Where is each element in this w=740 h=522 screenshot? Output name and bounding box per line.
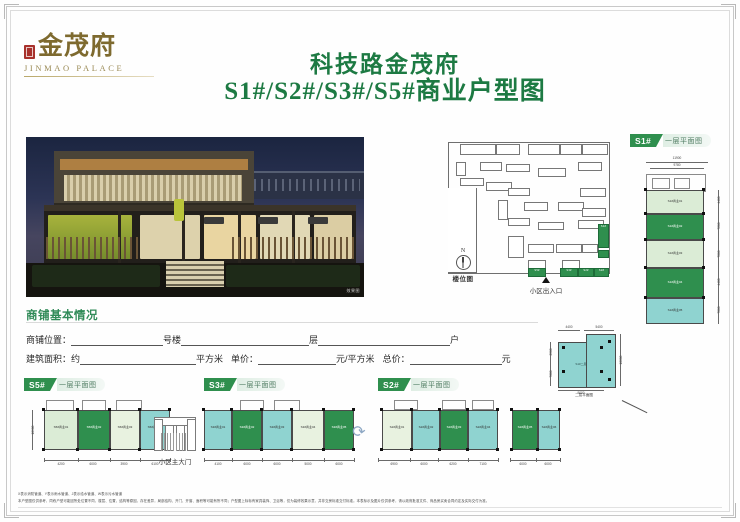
dim-text: 4400 xyxy=(558,325,580,329)
site-building xyxy=(456,162,466,176)
unit-suffix: 户 xyxy=(450,333,459,346)
unit-label: S2#商业05 xyxy=(513,425,537,430)
dim-line xyxy=(510,460,560,461)
corner-ornament-br xyxy=(721,503,736,518)
unit-block: S5#商业03 xyxy=(110,410,140,450)
shop-signage xyxy=(258,217,278,224)
footer-line-2: 本户型图仅供参考，同栋户型可能因所处位置不同，楼层、位置、结构等原因，存在差异，… xyxy=(18,498,722,504)
unit-input[interactable] xyxy=(318,334,450,346)
area-label: 建筑面积：约 xyxy=(26,352,80,365)
site-building xyxy=(582,244,598,253)
unit-block: S3#商业03 xyxy=(262,410,292,450)
brand-logo: 金茂府 JINMAO PALACE xyxy=(24,34,154,77)
unit-label: S3#商业04 xyxy=(293,425,323,430)
site-building xyxy=(528,244,554,253)
hedge xyxy=(32,265,160,287)
unit-block: S2#商业04 xyxy=(468,410,498,450)
total-price-input[interactable] xyxy=(410,353,502,365)
site-building xyxy=(580,188,606,197)
title-line-2: S1#/S2#/S3#/S5#商业户型图 xyxy=(185,78,585,106)
dim-text: 7000 xyxy=(717,247,721,261)
site-highlight-S1: S1# xyxy=(598,224,609,248)
unit-label: S1#商业02 xyxy=(647,224,703,229)
site-building xyxy=(508,188,530,196)
unit-label: S2#商业06 xyxy=(539,425,559,430)
chip-tail xyxy=(50,378,57,391)
site-highlight-small xyxy=(598,250,609,258)
unit-block: S1#商业01 xyxy=(646,190,704,214)
form-row-location: 商铺位置： 号楼 层 户 xyxy=(26,327,538,346)
footer-divider xyxy=(18,507,722,508)
building-no-input[interactable] xyxy=(71,334,163,346)
photo-watermark: 效果图 xyxy=(347,288,361,294)
brand-rule xyxy=(24,76,154,77)
floorplan-S1: 11900 9780 S1#商业01 S1#商业02 S1#商业03 S1#商业… xyxy=(636,158,736,338)
entry-pylon-sign xyxy=(174,199,184,221)
floor-suffix: 层 xyxy=(309,333,318,346)
dim-text: 6000 xyxy=(536,462,560,466)
site-building xyxy=(460,178,484,186)
entry-steps xyxy=(166,261,224,287)
dim-text: 6000 xyxy=(410,462,438,466)
entrance-caption: 小区出入口 xyxy=(508,285,584,295)
plan-caption-S5: 一层平面图 xyxy=(57,378,105,391)
dim-text: 9780 xyxy=(650,163,704,167)
shop-signage xyxy=(204,217,224,224)
unit-label: S1#商业05 xyxy=(647,308,703,313)
footer-disclaimer: X表示消防管道、Y表示雨水管道、J表示给水管道、W表示污水管道 本户型图仅供参考… xyxy=(18,491,722,508)
brand-name-en: JINMAO PALACE xyxy=(24,63,154,73)
dim-text: 6200 xyxy=(438,462,468,466)
site-building xyxy=(556,244,582,253)
page-title: 科技路金茂府 S1#/S2#/S3#/S5#商业户型图 xyxy=(185,52,585,106)
property-info-form: 商铺位置： 号楼 层 户 建筑面积：约 平方米 单价： 元/平方米 总价： 元 xyxy=(26,327,538,365)
dim-text: 6000 xyxy=(78,462,108,466)
unit-block: S3#商业04 xyxy=(292,410,324,450)
site-building xyxy=(538,222,564,230)
dim-text: 4200 xyxy=(46,462,76,466)
stair-core xyxy=(652,178,670,189)
site-building xyxy=(506,164,530,172)
timber-soffit xyxy=(60,159,248,170)
unit-block: S2#商业06 xyxy=(538,410,560,450)
plan-code-S2: S2# xyxy=(378,378,404,391)
dim-text: 7000 xyxy=(717,303,721,317)
plan-code-S5: S5# xyxy=(24,378,50,391)
site-highlight-S2: S2# xyxy=(578,268,594,277)
shopfront-2 xyxy=(140,215,200,259)
unit-label: S2#商业03 xyxy=(441,425,467,430)
corner-ornament-tl xyxy=(4,4,19,19)
unit-label: S2#商业02 xyxy=(413,425,439,430)
dim-text: 10000 xyxy=(619,353,623,367)
unit-label: S1#商业04 xyxy=(647,280,703,285)
total-price-unit: 元 xyxy=(502,352,511,365)
plan-code-S1: S1# xyxy=(630,134,656,147)
site-building xyxy=(582,208,606,217)
compass-rose: N 楼位图 xyxy=(450,248,476,283)
stair-core xyxy=(442,400,466,410)
unit-block: S5#商业02 xyxy=(78,410,110,450)
dim-text: 6000 xyxy=(232,462,262,466)
unit-label: S5#商业03 xyxy=(111,425,139,430)
plan-label-S1: S1# 一层平面图 xyxy=(630,134,711,147)
site-highlight-S5: S5# xyxy=(528,268,546,277)
gate-caption: 小区主大门 xyxy=(146,456,204,466)
unit-price-label: 单价： xyxy=(223,352,258,365)
compass-dial-icon xyxy=(456,255,471,270)
chip-tail xyxy=(404,378,411,391)
dim-text: 7600 xyxy=(549,367,553,381)
retail-street-night-photo: 效果图 xyxy=(26,137,364,297)
floor-input[interactable] xyxy=(181,334,309,346)
dim-text: 4100 xyxy=(204,462,232,466)
detail-unit-label: S1#二层 xyxy=(558,362,604,366)
dim-text: 4400 xyxy=(717,193,721,207)
plan-code-S3: S3# xyxy=(204,378,230,391)
site-building xyxy=(538,168,566,177)
chip-tail xyxy=(230,378,237,391)
dim-text: 7100 xyxy=(468,462,498,466)
site-building xyxy=(496,144,520,155)
site-building xyxy=(560,144,582,155)
floorplan-S3: S3#商业01 S3#商业02 S3#商业03 S3#商业04 S3#商业05 … xyxy=(200,398,375,472)
decorative-swirl-icon: ⟳ xyxy=(351,421,367,443)
unit-label: S5#商业02 xyxy=(79,425,109,430)
service-room xyxy=(674,178,690,189)
unit-label: S1#商业01 xyxy=(647,199,703,204)
detail-wing xyxy=(586,334,616,388)
form-section-title: 商铺基本情况 xyxy=(26,307,98,323)
plan-label-S3: S3# 一层平面图 xyxy=(204,378,285,391)
area-unit: 平方米 xyxy=(196,352,223,365)
site-building xyxy=(480,162,502,171)
siteplan-caption: 楼位图 xyxy=(450,273,476,283)
dim-text: 4400 xyxy=(717,275,721,289)
dim-line xyxy=(204,460,354,461)
unit-block: S2#商业03 xyxy=(440,410,468,450)
brand-name-cn: 金茂府 xyxy=(38,34,116,59)
gate-illustration-icon xyxy=(152,415,196,455)
unit-block: S1#商业04 xyxy=(646,268,704,298)
unit-block: S2#商业01 xyxy=(382,410,412,450)
site-building xyxy=(498,200,508,220)
compass-north-label: N xyxy=(450,248,476,254)
unit-label: S3#商业01 xyxy=(205,425,231,430)
dim-text: 3900 xyxy=(110,462,138,466)
floorplan-S2: S2#商业01 S2#商业02 S2#商业03 S2#商业04 S2#商业05 … xyxy=(376,398,562,472)
unit-label: S3#商业05 xyxy=(325,425,353,430)
form-divider xyxy=(26,322,538,323)
dim-text: 5400 xyxy=(584,325,614,329)
dim-text: 11900 xyxy=(646,156,708,160)
unit-block: S2#商业02 xyxy=(412,410,440,450)
site-highlight-S2b: S2# xyxy=(594,268,609,277)
brochure-sheet: 金茂府 JINMAO PALACE 科技路金茂府 S1#/S2#/S3#/S5#… xyxy=(0,0,740,522)
building-unit-suffix: 号楼 xyxy=(163,333,181,346)
dim-text: 2500 xyxy=(549,345,553,359)
hedge xyxy=(226,265,360,287)
location-label: 商铺位置： xyxy=(26,333,71,346)
right-wing-volume xyxy=(248,171,364,199)
unit-label: S3#商业02 xyxy=(233,425,261,430)
unit-label: S3#商业03 xyxy=(263,425,291,430)
area-input[interactable] xyxy=(80,353,196,365)
site-building xyxy=(528,144,560,155)
unit-block: S1#商业02 xyxy=(646,214,704,240)
dim-line xyxy=(584,330,614,331)
dim-text: 7200 xyxy=(717,219,721,233)
site-building xyxy=(558,202,584,211)
corner-ornament-bl xyxy=(4,503,19,518)
site-building xyxy=(578,162,602,171)
site-building xyxy=(508,218,530,226)
dim-text: 6900 xyxy=(378,462,410,466)
form-row-area-price: 建筑面积：约 平方米 单价： 元/平方米 总价： 元 xyxy=(26,346,538,365)
unit-price-input[interactable] xyxy=(258,353,336,365)
unit-label: S5#商业01 xyxy=(45,425,77,430)
shop-signage xyxy=(308,217,328,224)
dim-text: 6000 xyxy=(324,462,354,466)
dim-text: 10900 xyxy=(31,423,35,437)
site-building xyxy=(582,144,608,155)
title-line-1: 科技路金茂府 xyxy=(185,52,585,78)
plan-caption-S3: 一层平面图 xyxy=(237,378,285,391)
site-highlight-S3: S3# xyxy=(560,268,578,277)
corner-ornament-tr xyxy=(721,4,736,19)
gate-grill xyxy=(161,433,187,451)
dim-text: 6000 xyxy=(262,462,292,466)
service-room xyxy=(394,400,418,410)
unit-block: S2#商业05 xyxy=(512,410,538,450)
gate-pier xyxy=(187,419,196,451)
red-seal-icon xyxy=(24,45,35,59)
unit-label: S2#商业01 xyxy=(383,425,411,430)
dim-line xyxy=(558,330,580,331)
chip-tail xyxy=(656,134,663,147)
site-building xyxy=(460,144,496,155)
plan-caption-S1: 一层平面图 xyxy=(663,134,711,147)
service-room xyxy=(472,400,494,410)
total-price-label: 总价： xyxy=(375,352,410,365)
unit-block: S3#商业05 xyxy=(324,410,354,450)
unit-block: S1#商业05 xyxy=(646,298,704,324)
unit-label: S2#商业04 xyxy=(469,425,497,430)
unit-label: S1#商业03 xyxy=(647,251,703,256)
site-location-plan: S1# S5# S3# S2# S2# 小区出入口 N 楼位图 xyxy=(432,140,624,298)
dim-line xyxy=(650,168,704,169)
plan-label-S5: S5# 一层平面图 xyxy=(24,378,105,391)
compass-needle-icon xyxy=(462,257,464,268)
unit-price-unit: 元/平方米 xyxy=(336,352,375,365)
site-building xyxy=(508,236,524,258)
unit-block: S5#商业01 xyxy=(44,410,78,450)
site-building xyxy=(524,202,548,211)
upper-glazing xyxy=(64,175,242,201)
unit-block: S3#商业01 xyxy=(204,410,232,450)
unit-block: S1#商业03 xyxy=(646,240,704,268)
plan-label-S2: S2# 一层平面图 xyxy=(378,378,459,391)
timber-rail xyxy=(46,237,138,259)
dim-text: 6000 xyxy=(510,462,536,466)
plan-caption-S2: 一层平面图 xyxy=(411,378,459,391)
dim-text: 5000 xyxy=(292,462,324,466)
entrance-arrow-icon xyxy=(542,277,550,283)
timber-rail xyxy=(232,237,356,259)
unit-block: S3#商业02 xyxy=(232,410,262,450)
